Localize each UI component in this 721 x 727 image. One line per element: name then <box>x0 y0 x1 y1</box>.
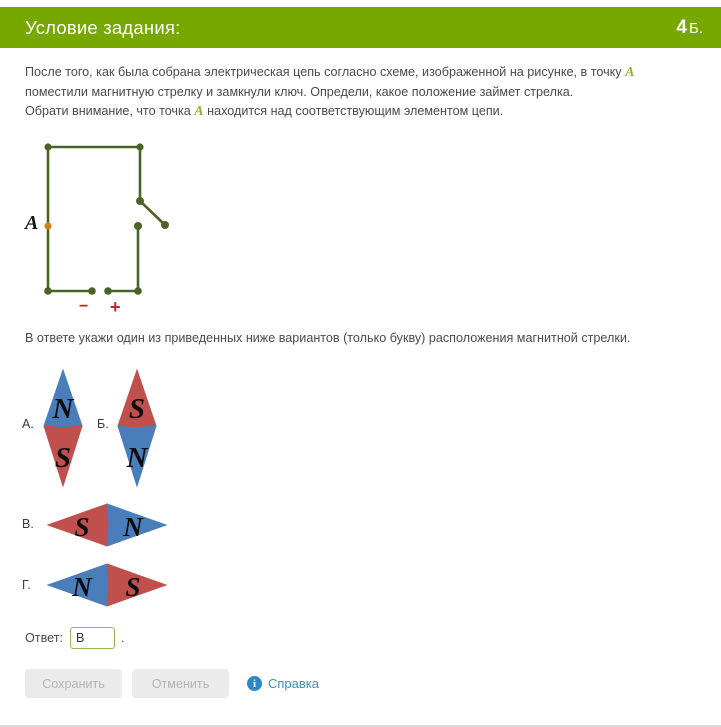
circuit-nodes <box>44 143 169 294</box>
page-title: Условие задания: <box>25 17 180 39</box>
option-label-g: Г. <box>22 578 31 592</box>
task-line-3-text-a: Обрати внимание, что точка <box>25 104 194 118</box>
point-a-variable: A <box>625 65 634 80</box>
option-label-v: В. <box>22 517 34 531</box>
point-a-label: A <box>25 212 38 235</box>
score-value: 4 <box>676 17 687 38</box>
needle-g-right-letter: S <box>125 572 140 602</box>
task-line-1: После того, как была собрана электрическ… <box>25 63 665 83</box>
point-a-marker <box>44 222 51 229</box>
node-bottom-left <box>44 287 52 295</box>
node-bottom-right <box>134 287 142 295</box>
help-link[interactable]: i Справка <box>247 676 319 691</box>
answer-instruction: В ответе укажи один из приведенных ниже … <box>25 331 685 345</box>
needle-option-a[interactable]: N S <box>44 370 84 486</box>
task-line-3-text-b: находится над соответствующим элементом … <box>204 104 504 118</box>
task-header: Условие задания: 4Б. <box>0 7 721 48</box>
answer-row: Ответ: . <box>25 627 124 649</box>
help-label: Справка <box>268 676 319 691</box>
battery-negative-node <box>88 287 96 295</box>
score-unit: Б. <box>689 20 703 37</box>
answer-input[interactable] <box>70 627 115 649</box>
circuit-diagram: − + <box>20 135 210 320</box>
needle-option-v[interactable]: S N <box>48 504 166 546</box>
switch-lower-contact-node <box>134 222 142 230</box>
needle-option-g[interactable]: N S <box>48 564 166 606</box>
task-statement: После того, как была собрана электрическ… <box>25 63 665 122</box>
info-icon: i <box>247 676 262 691</box>
answer-trailing-punctuation: . <box>121 631 125 645</box>
node-top-left <box>44 143 51 150</box>
answer-label: Ответ: <box>25 631 63 645</box>
needle-a-bottom-letter: S <box>55 442 71 474</box>
task-page: Условие задания: 4Б. После того, как был… <box>0 0 721 727</box>
point-a-variable-2: A <box>194 104 203 119</box>
switch-lever <box>140 201 165 225</box>
cancel-button[interactable]: Отменить <box>132 669 229 698</box>
task-line-3: Обрати внимание, что точка A находится н… <box>25 102 665 122</box>
switch-hinge-node <box>136 197 144 205</box>
score-badge: 4Б. <box>676 17 703 39</box>
save-button[interactable]: Сохранить <box>25 669 122 698</box>
node-top-right <box>136 143 143 150</box>
needle-b-top-letter: S <box>129 393 145 425</box>
action-buttons: Сохранить Отменить i Справка <box>25 669 319 698</box>
task-line-1-text: После того, как была собрана электрическ… <box>25 65 625 79</box>
needle-a-top-letter: N <box>52 393 75 425</box>
needle-v-right-letter: N <box>122 512 144 542</box>
needle-v-left-letter: S <box>74 512 89 542</box>
task-line-2: поместили магнитную стрелку и замкнули к… <box>25 83 665 103</box>
needle-option-b[interactable]: S N <box>118 370 158 486</box>
switch-open-contact-node <box>161 221 169 229</box>
battery-negative-sign: − <box>79 298 88 315</box>
needle-b-bottom-letter: N <box>126 442 149 474</box>
option-label-a: А. <box>22 417 34 431</box>
battery-positive-node <box>104 287 112 295</box>
needle-g-left-letter: N <box>71 572 93 602</box>
option-label-b: Б. <box>97 417 109 431</box>
battery-positive-sign: + <box>110 297 121 317</box>
